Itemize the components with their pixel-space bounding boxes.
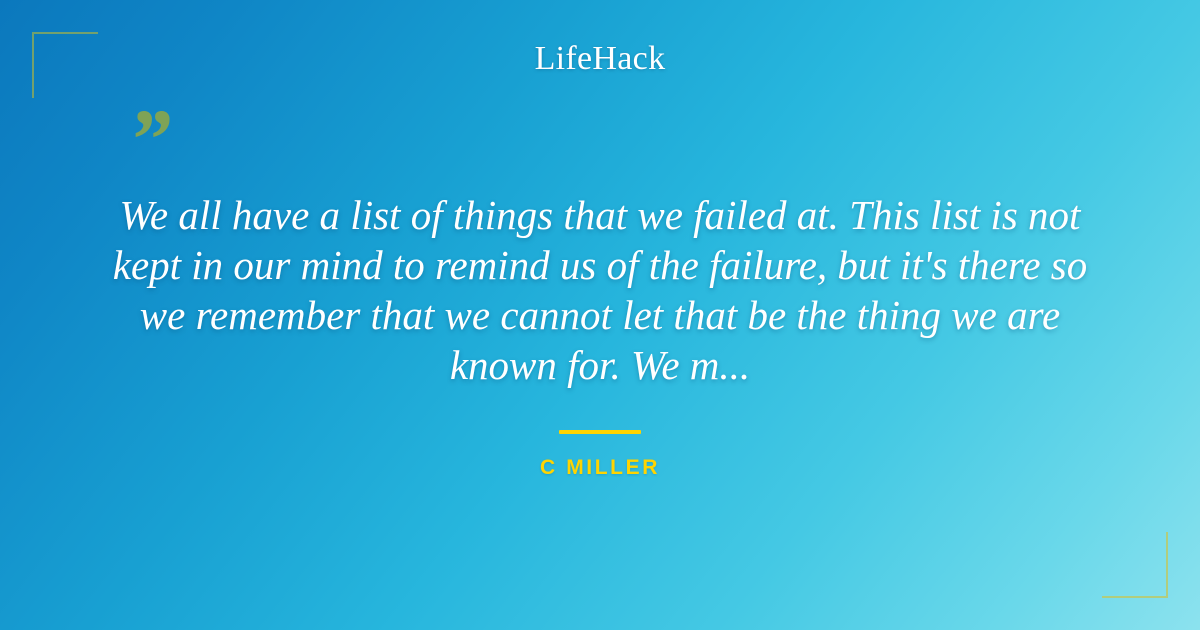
quote-line: we remember that we cannot let that be t… bbox=[90, 290, 1110, 340]
quote-text: We all have a list of things that we fai… bbox=[90, 190, 1110, 390]
attribution-divider bbox=[559, 430, 641, 434]
brand-logo: LifeHack bbox=[0, 40, 1200, 78]
corner-bracket-bottom-right-icon bbox=[1102, 532, 1168, 598]
quote-line: known for. We m... bbox=[90, 340, 1110, 390]
quote-card: LifeHack ” We all have a list of things … bbox=[0, 0, 1200, 630]
quotation-mark-icon: ” bbox=[128, 96, 171, 182]
author-name: C MILLER bbox=[0, 456, 1200, 480]
attribution: C MILLER bbox=[0, 430, 1200, 480]
quote-line: We all have a list of things that we fai… bbox=[90, 190, 1110, 240]
quote-line: kept in our mind to remind us of the fai… bbox=[90, 240, 1110, 290]
